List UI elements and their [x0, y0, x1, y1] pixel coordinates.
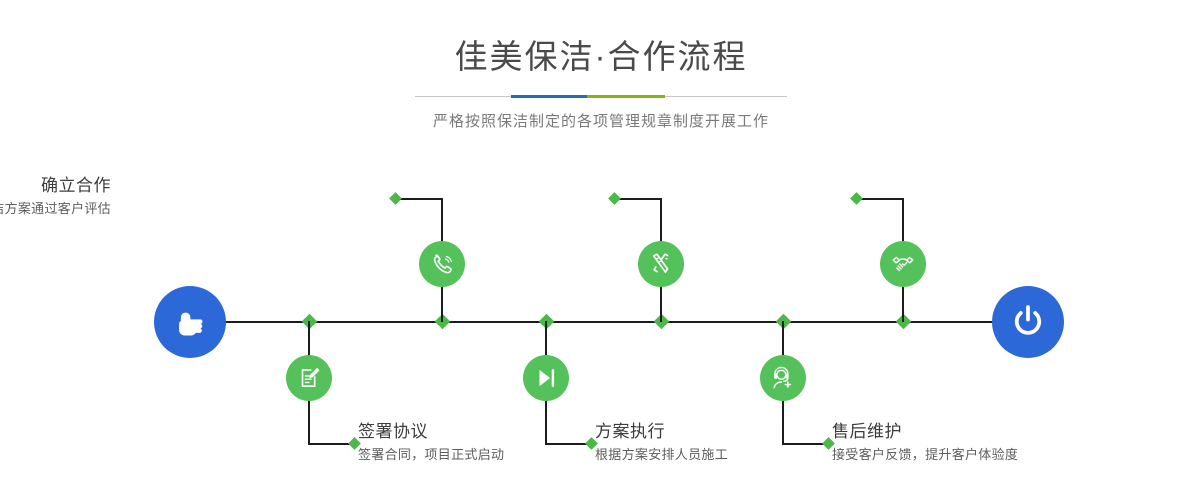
handshake-icon	[890, 251, 916, 277]
page-title: 佳美保洁·合作流程	[0, 34, 1202, 80]
pointing-hand-icon	[170, 302, 210, 342]
process-timeline: 电话咨询 阐明基本情况和需求 签署协议 签署合同，项目正式启动	[0, 158, 1202, 502]
step-icon-play-execute[interactable]	[523, 355, 569, 401]
timeline-end-node[interactable]	[992, 286, 1064, 358]
step-icon-pencil-ruler[interactable]	[638, 241, 684, 287]
pencil-ruler-icon	[648, 251, 674, 277]
divider-green-segment	[587, 95, 665, 98]
page-header: 佳美保洁·合作流程 严格按照保洁制定的各项管理规章制度开展工作	[0, 0, 1202, 133]
timeline-start-node[interactable]	[154, 286, 226, 358]
customer-service-add-icon	[770, 365, 796, 391]
step-desc: 签署合同，项目正式启动	[358, 444, 504, 466]
divider-blue-segment	[511, 95, 587, 98]
branch-step-6: 售后维护 接受客户反馈，提升客户体验度	[782, 158, 783, 502]
step-icon-document-sign[interactable]	[286, 355, 332, 401]
title-divider	[415, 91, 787, 103]
branch-horizontal-line	[396, 198, 443, 200]
label-marker	[850, 192, 863, 205]
step-desc: 根据方案安排人员施工	[595, 444, 728, 466]
play-execute-icon	[533, 365, 559, 391]
step-desc: 清洁方案通过客户评估	[0, 198, 111, 220]
branch-step-4: 方案执行 根据方案安排人员施工	[545, 158, 546, 502]
step-icon-phone-call[interactable]	[419, 241, 465, 287]
branch-step-2: 签署协议 签署合同，项目正式启动	[308, 158, 309, 502]
step-title: 签署协议	[358, 420, 504, 444]
step-label-2: 签署协议 签署合同，项目正式启动	[358, 420, 504, 466]
step-title: 方案执行	[595, 420, 728, 444]
branch-horizontal-line	[857, 198, 904, 200]
power-icon	[1008, 302, 1048, 342]
step-title: 售后维护	[832, 420, 1018, 444]
step-label-5: 确立合作 清洁方案通过客户评估	[0, 174, 111, 220]
step-desc: 接受客户反馈，提升客户体验度	[832, 444, 1018, 466]
step-label-6: 售后维护 接受客户反馈，提升客户体验度	[832, 420, 1018, 466]
label-marker	[389, 192, 402, 205]
step-label-4: 方案执行 根据方案安排人员施工	[595, 420, 728, 466]
page-subtitle: 严格按照保洁制定的各项管理规章制度开展工作	[0, 111, 1202, 133]
document-sign-icon	[296, 365, 322, 391]
step-icon-customer-service[interactable]	[760, 355, 806, 401]
label-marker	[608, 192, 621, 205]
branch-horizontal-line	[615, 198, 662, 200]
step-title: 确立合作	[0, 174, 111, 198]
phone-call-icon	[429, 251, 455, 277]
step-icon-handshake[interactable]	[880, 241, 926, 287]
